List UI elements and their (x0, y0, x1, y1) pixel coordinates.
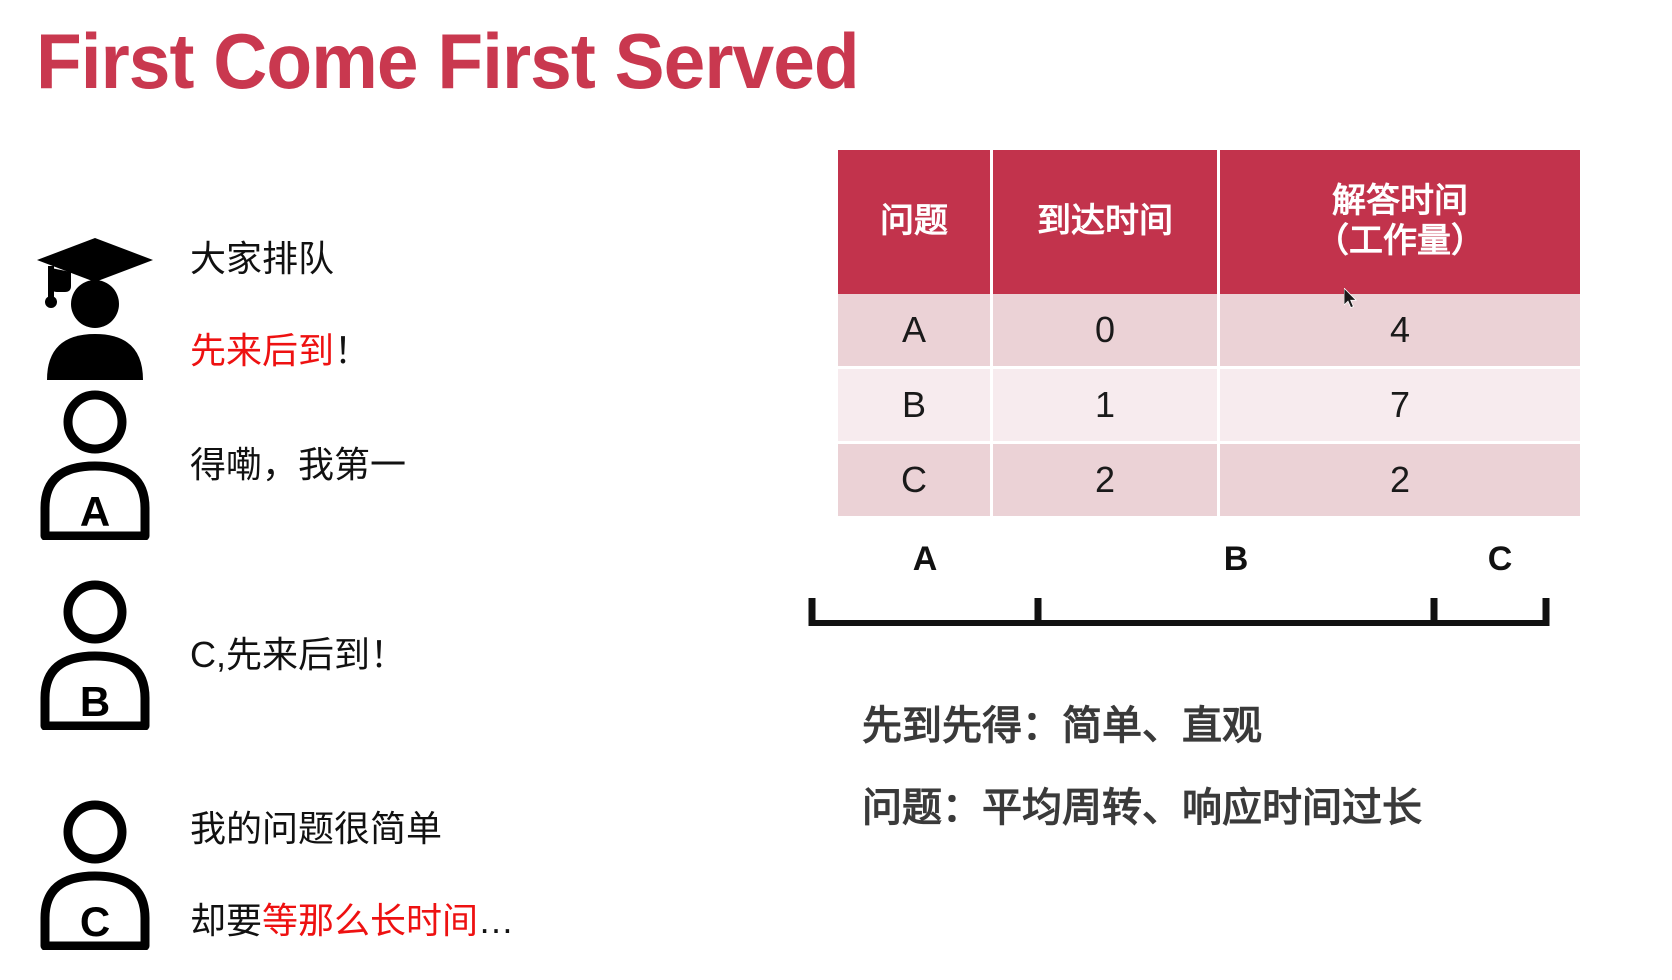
speech-line-text: 大家排队 (190, 238, 334, 279)
character-speech-a: 得嘞，我第一 (190, 396, 406, 534)
timeline-label-a: A (913, 540, 938, 579)
table-row: B 1 7 (838, 368, 1580, 443)
execution-timeline: A B C (800, 520, 1570, 640)
cell-question: C (838, 443, 992, 518)
person-badge-letter: C (80, 898, 110, 945)
cell-question: A (838, 294, 992, 368)
speech-line-suffix: … (478, 900, 514, 941)
timeline-tick-2 (1431, 598, 1438, 626)
table-header-row: 问题 到达时间 解答时间 （工作量） (838, 150, 1580, 294)
character-row-b: B C,先来后到！ (0, 580, 760, 730)
character-speech-b: C,先来后到！ (190, 586, 406, 724)
summary-notes: 先到先得：简单、直观 问题：平均周转、响应时间过长 (862, 706, 1622, 870)
characters-panel: 大家排队 先来后到！ A 得嘞，我第一 (0, 190, 760, 950)
timeline-label-b: B (1224, 540, 1249, 579)
speech-line-suffix: ！ (334, 330, 370, 371)
graduate-person-icon (0, 230, 190, 380)
timeline-tick-0 (809, 598, 816, 626)
speech-line-text: C,先来后到！ (190, 634, 406, 675)
cell-arrival: 0 (992, 294, 1219, 368)
speech-line-text: 得嘞，我第一 (190, 444, 406, 485)
speech-line-prefix: 却要 (190, 900, 262, 941)
table-header-arrival: 到达时间 (992, 150, 1219, 294)
person-icon: B (0, 580, 190, 730)
person-badge-letter: B (80, 678, 110, 725)
page-title: First Come First Served (36, 22, 859, 100)
table-row: C 2 2 (838, 443, 1580, 518)
speech-line-text: 我的问题很简单 (190, 808, 442, 849)
timeline-tick-1 (1035, 598, 1042, 626)
character-speech-teacher: 大家排队 先来后到！ (190, 190, 370, 420)
person-badge-letter: A (80, 488, 110, 535)
cell-arrival: 2 (992, 443, 1219, 518)
cell-service: 2 (1219, 443, 1581, 518)
character-row-teacher: 大家排队 先来后到！ (0, 190, 760, 420)
table-header-question: 问题 (838, 150, 992, 294)
schedule-table: 问题 到达时间 解答时间 （工作量） A 0 4 B 1 7 C (838, 150, 1580, 519)
cell-question: B (838, 368, 992, 443)
speech-line-text-highlight: 等那么长时间 (262, 900, 478, 941)
cell-service: 4 (1219, 294, 1581, 368)
table-header-service: 解答时间 （工作量） (1219, 150, 1581, 294)
table-row: A 0 4 (838, 294, 1580, 368)
schedule-table-wrapper: 问题 到达时间 解答时间 （工作量） A 0 4 B 1 7 C (838, 150, 1550, 519)
speech-line-text-highlight: 先来后到 (190, 330, 334, 371)
cell-arrival: 1 (992, 368, 1219, 443)
character-row-a: A 得嘞，我第一 (0, 390, 760, 540)
person-icon: C (0, 800, 190, 950)
slide-canvas: First Come First Served 大家排队 (0, 0, 1672, 980)
note-line-problem: 问题：平均周转、响应时间过长 (862, 788, 1622, 828)
cell-service: 7 (1219, 368, 1581, 443)
timeline-label-c: C (1488, 540, 1513, 579)
timeline-tick-3 (1543, 598, 1550, 626)
character-row-c: C 我的问题很简单 却要等那么长时间… (0, 760, 760, 980)
character-speech-c: 我的问题很简单 却要等那么长时间… (190, 760, 514, 980)
note-line-advantage: 先到先得：简单、直观 (862, 706, 1622, 746)
person-icon: A (0, 390, 190, 540)
